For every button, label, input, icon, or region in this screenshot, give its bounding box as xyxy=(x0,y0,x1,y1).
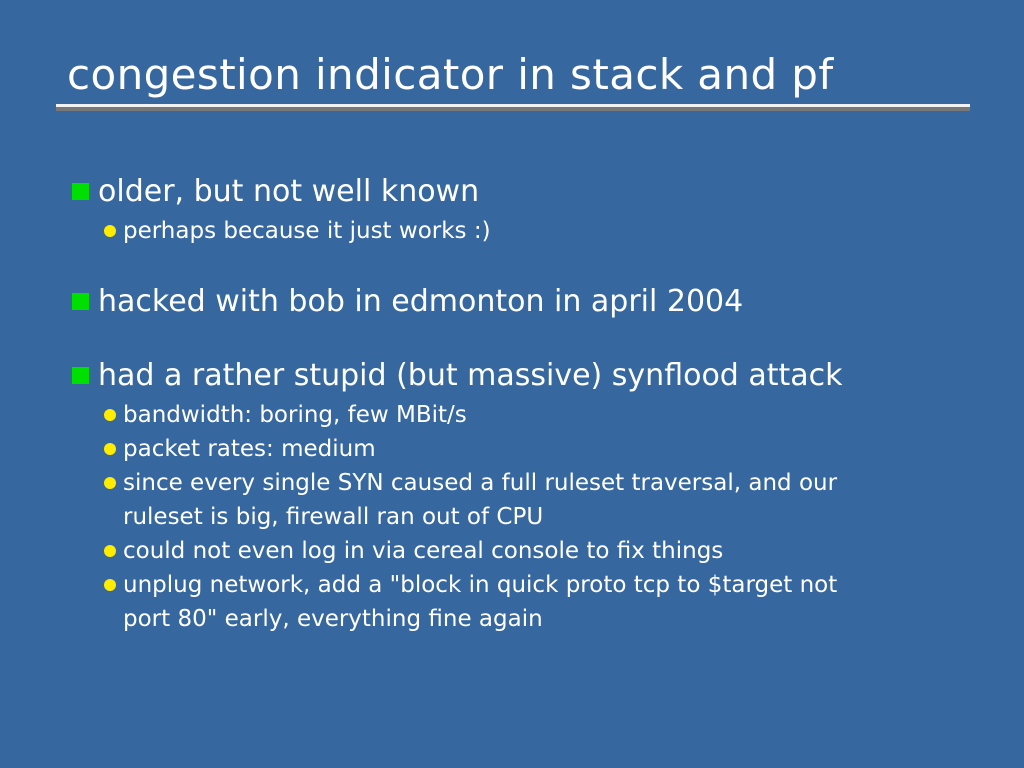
yellow-dot-bullet-icon xyxy=(104,545,116,557)
bullet-level2: unplug network, add a "block in quick pr… xyxy=(104,568,972,636)
bullet-level2-label: bandwidth: boring, few MBit/s xyxy=(123,398,467,432)
bullet-group: hacked with bob in edmonton in april 200… xyxy=(72,282,972,322)
title-divider xyxy=(56,104,970,111)
bullet-group: had a rather stupid (but massive) synflo… xyxy=(72,356,972,636)
green-square-bullet-icon xyxy=(72,293,89,310)
yellow-dot-bullet-icon xyxy=(104,579,116,591)
bullet-level1-label: older, but not well known xyxy=(98,172,479,212)
green-square-bullet-icon xyxy=(72,367,89,384)
bullet-level1: had a rather stupid (but massive) synflo… xyxy=(72,356,972,396)
yellow-dot-bullet-icon xyxy=(104,409,116,421)
yellow-dot-bullet-icon xyxy=(104,477,116,489)
sub-bullet-list: perhaps because it just works :) xyxy=(72,214,972,248)
bullet-level2-label: since every single SYN caused a full rul… xyxy=(123,466,875,534)
bullet-level2: could not even log in via cereal console… xyxy=(104,534,972,568)
bullet-level1: hacked with bob in edmonton in april 200… xyxy=(72,282,972,322)
bullet-level2-label: packet rates: medium xyxy=(123,432,376,466)
green-square-bullet-icon xyxy=(72,183,89,200)
bullet-level2-label: perhaps because it just works :) xyxy=(123,214,491,248)
yellow-dot-bullet-icon xyxy=(104,225,116,237)
bullet-level1-label: hacked with bob in edmonton in april 200… xyxy=(98,282,743,322)
bullet-level2: packet rates: medium xyxy=(104,432,972,466)
bullet-group: older, but not well known perhaps becaus… xyxy=(72,172,972,248)
bullet-level1-label: had a rather stupid (but massive) synflo… xyxy=(98,356,843,396)
title-divider-shadow xyxy=(56,107,970,111)
bullet-level2: bandwidth: boring, few MBit/s xyxy=(104,398,972,432)
bullet-level2: since every single SYN caused a full rul… xyxy=(104,466,972,534)
yellow-dot-bullet-icon xyxy=(104,443,116,455)
bullet-level2-label: unplug network, add a "block in quick pr… xyxy=(123,568,875,636)
slide-body: older, but not well known perhaps becaus… xyxy=(72,172,972,636)
sub-bullet-list: bandwidth: boring, few MBit/s packet rat… xyxy=(72,398,972,636)
bullet-level2: perhaps because it just works :) xyxy=(104,214,972,248)
page-title: congestion indicator in stack and pf xyxy=(56,52,970,97)
presentation-slide: congestion indicator in stack and pf old… xyxy=(0,0,1024,768)
slide-title-block: congestion indicator in stack and pf xyxy=(56,52,970,111)
bullet-level1: older, but not well known xyxy=(72,172,972,212)
bullet-level2-label: could not even log in via cereal console… xyxy=(123,534,723,568)
